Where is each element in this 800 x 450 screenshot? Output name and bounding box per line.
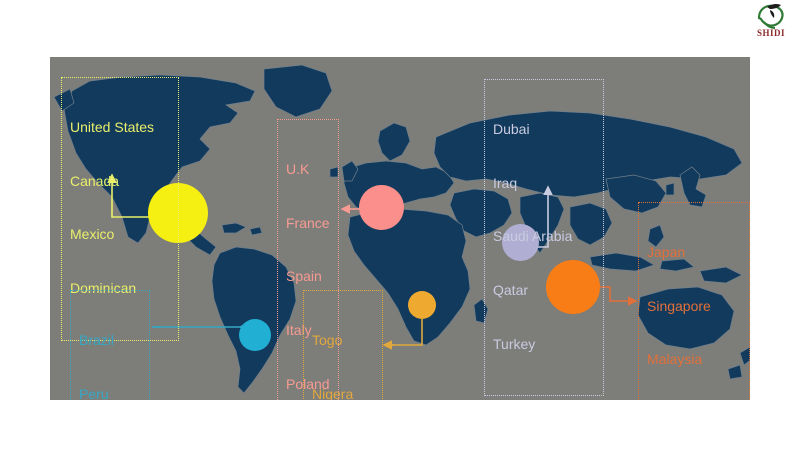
country-label: United States	[70, 119, 170, 137]
country-label: Togo	[312, 332, 374, 350]
company-logo: SHIDI	[748, 2, 794, 44]
screenshot-root: SHIDI	[0, 0, 800, 450]
country-label: U.K	[286, 161, 330, 179]
country-label: Turkey	[493, 336, 595, 354]
country-label: Japan	[647, 244, 741, 262]
label-box-middle-east[interactable]: Dubai Iraq Saudi Arabia Qatar Turkey	[484, 79, 604, 396]
logo-brand-text: SHIDI	[748, 28, 794, 38]
country-label: Iraq	[493, 175, 595, 193]
country-label: Singapore	[647, 298, 741, 316]
label-box-africa[interactable]: Togo Nigera Algeria Egypt Morocco	[303, 290, 383, 400]
country-label: France	[286, 215, 330, 233]
bubble-south-america[interactable]	[239, 319, 271, 351]
leaf-bird-logo-icon	[754, 2, 788, 30]
country-label: Mexico	[70, 226, 170, 244]
label-box-south-america[interactable]: Brazil Peru Uruguay Ecuador	[70, 290, 150, 400]
world-map-panel: United States Canada Mexico Dominican U.…	[50, 57, 750, 400]
country-label: Peru	[79, 386, 141, 400]
label-box-asia-pacific[interactable]: Japan Singapore Malaysia Phillippine Ind…	[638, 202, 750, 400]
bubble-europe[interactable]	[359, 185, 404, 230]
country-label: Malaysia	[647, 351, 741, 369]
country-label: Dubai	[493, 121, 595, 139]
country-label: Nigera	[312, 386, 374, 400]
bubble-africa[interactable]	[408, 291, 436, 319]
country-label: Canada	[70, 173, 170, 191]
country-label: Qatar	[493, 282, 595, 300]
country-label: Saudi Arabia	[493, 228, 595, 246]
country-label: Spain	[286, 268, 330, 286]
country-label: Brazil	[79, 332, 141, 350]
